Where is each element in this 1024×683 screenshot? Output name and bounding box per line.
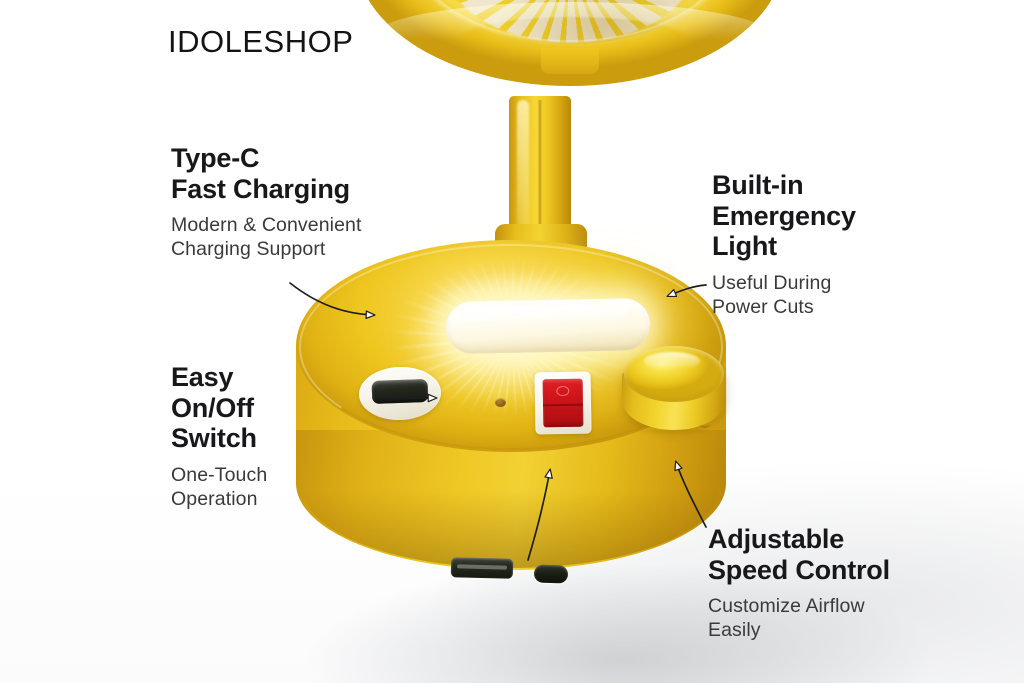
usb-output-port[interactable] <box>451 557 514 579</box>
knob-highlight <box>644 352 700 370</box>
callout-adjustable-speed-control: Adjustable Speed Control Customize Airfl… <box>708 524 890 642</box>
speed-control-knob[interactable] <box>622 346 726 444</box>
infographic-canvas: IDOLESHOP Type-C Fast Charging Modern & … <box>0 0 1024 683</box>
callout-title: Built-in Emergency Light <box>712 170 856 262</box>
rocker-key[interactable] <box>543 379 584 428</box>
callout-title: Easy On/Off Switch <box>171 362 267 454</box>
callout-subtitle: One-Touch Operation <box>171 463 267 511</box>
neck-highlight <box>517 100 529 240</box>
callout-subtitle: Modern & Convenient Charging Support <box>171 213 362 261</box>
callout-subtitle: Customize Airflow Easily <box>708 594 890 642</box>
callout-easy-on-off-switch: Easy On/Off Switch One-Touch Operation <box>171 362 267 511</box>
base-bottom-shading <box>304 490 718 568</box>
fan-head-grille <box>355 0 785 86</box>
base-drum <box>296 240 726 620</box>
callout-title: Type-C Fast Charging <box>171 143 362 204</box>
callout-subtitle: Useful During Power Cuts <box>712 271 856 319</box>
callout-title: Adjustable Speed Control <box>708 524 890 585</box>
red-rocker-switch[interactable] <box>534 372 591 435</box>
indicator-led <box>495 398 506 407</box>
emergency-led-light-bar[interactable] <box>445 298 650 354</box>
callout-type-c-fast-charging: Type-C Fast Charging Modern & Convenient… <box>171 143 362 261</box>
head-mount-foot <box>541 48 599 74</box>
callout-built-in-emergency-light: Built-in Emergency Light Useful During P… <box>712 170 856 319</box>
brand-name: IDOLESHOP <box>168 24 353 60</box>
knob-tick-mark <box>700 421 710 428</box>
type-c-charging-port[interactable] <box>534 564 569 583</box>
